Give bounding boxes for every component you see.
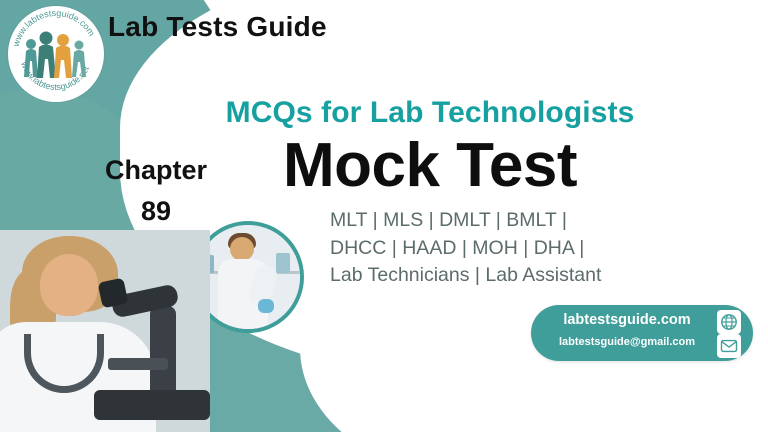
- mail-icon[interactable]: [717, 334, 741, 358]
- chapter-label: Chapter: [76, 155, 236, 186]
- circle-photo-person-glove: [258, 299, 274, 313]
- circle-photo-bottle: [276, 253, 290, 273]
- contact-pill[interactable]: labtestsguide.com labtestsguide@gmail.co…: [531, 305, 753, 361]
- page-subtitle: MCQs for Lab Technologists: [140, 96, 720, 130]
- photo-person-head: [40, 254, 98, 316]
- qualifications-line-1: MLT | MLS | DMLT | BMLT |: [330, 207, 730, 235]
- chapter-number: 89: [76, 196, 236, 227]
- qualifications-list: MLT | MLS | DMLT | BMLT | DHCC | HAAD | …: [330, 207, 730, 290]
- microscope-eyepiece: [98, 278, 129, 309]
- microscope-technician-photo: [0, 230, 210, 432]
- family-figures-icon: [22, 28, 90, 80]
- microscope-arm: [150, 306, 176, 398]
- poster-canvas: www.labtestsguide.com www.labtestsguide.…: [0, 0, 768, 432]
- website-text[interactable]: labtestsguide.com: [547, 312, 707, 328]
- qualifications-line-3: Lab Technicians | Lab Assistant: [330, 262, 730, 290]
- qualifications-line-2: DHCC | HAAD | MOH | DHA |: [330, 235, 730, 263]
- brand-title: Lab Tests Guide: [108, 8, 338, 47]
- email-text[interactable]: labtestsguide@gmail.com: [541, 336, 713, 348]
- microscope-base: [94, 390, 210, 420]
- globe-icon[interactable]: [717, 310, 741, 334]
- microscope-stage: [108, 358, 168, 370]
- brand-logo: www.labtestsguide.com www.labtestsguide.…: [8, 6, 104, 102]
- circle-photo-person-head: [230, 237, 254, 261]
